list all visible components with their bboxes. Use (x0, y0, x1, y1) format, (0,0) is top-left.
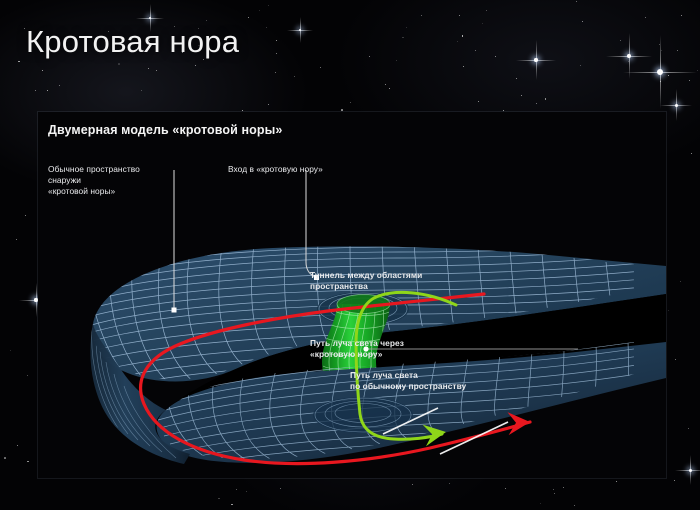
star (545, 98, 547, 100)
star (17, 445, 18, 446)
star (246, 491, 247, 492)
star (689, 80, 690, 81)
star (668, 75, 669, 76)
star (248, 17, 249, 18)
star (688, 428, 689, 429)
diagram-panel: Двумерная модель «кротовой норы» (38, 112, 666, 478)
star (231, 504, 233, 506)
star (462, 35, 464, 37)
star (242, 110, 243, 111)
star (554, 493, 555, 494)
star (563, 487, 564, 488)
star (294, 76, 295, 77)
star (385, 84, 386, 85)
annotation-tunnel: Туннель между областями пространства (310, 270, 422, 292)
star (275, 72, 276, 73)
wormhole-diagram: Обычное пространство снаружи «кротовой н… (38, 112, 666, 478)
star (350, 102, 351, 103)
star (582, 21, 583, 22)
star (516, 78, 517, 79)
star (35, 90, 36, 91)
star (148, 68, 149, 69)
star (616, 481, 617, 482)
star (266, 27, 267, 28)
star (42, 70, 43, 71)
star (482, 23, 483, 24)
star (645, 17, 646, 18)
star (449, 483, 450, 484)
annotation-light-through-wormhole: Путь луча света через «кротовую нору» (310, 338, 404, 360)
star (681, 15, 682, 16)
annotation-entrance: Вход в «кротовую нору» (228, 164, 323, 175)
star (280, 488, 281, 489)
star (691, 153, 692, 154)
star (505, 488, 506, 489)
star (412, 484, 413, 485)
star (486, 10, 487, 11)
star (521, 95, 522, 96)
leader-dot-outer-space (172, 308, 177, 313)
star (236, 489, 237, 490)
annotation-light-normal-space: Путь луча света по обычному пространству (350, 370, 466, 392)
star (674, 480, 675, 481)
star (475, 50, 476, 51)
star (25, 215, 26, 216)
star (206, 20, 207, 21)
star (457, 41, 458, 42)
star (369, 56, 370, 57)
star (459, 15, 460, 16)
star (118, 63, 120, 65)
star (156, 70, 157, 71)
star (576, 1, 577, 2)
star (540, 503, 541, 504)
star (276, 53, 277, 54)
star (553, 489, 554, 490)
star (27, 461, 29, 463)
star (341, 109, 343, 111)
star (195, 65, 196, 66)
star (16, 239, 17, 240)
star (320, 67, 321, 68)
star (536, 103, 537, 104)
star (141, 90, 142, 91)
star (389, 88, 390, 89)
star (680, 281, 681, 282)
star (268, 104, 269, 105)
star (27, 375, 28, 376)
star (218, 498, 220, 500)
star (59, 85, 60, 86)
annotation-outer-space: Обычное пространство снаружи «кротовой н… (48, 164, 140, 198)
page-title: Кротовая нора (26, 24, 239, 60)
star (668, 310, 669, 311)
star (259, 10, 260, 11)
star (4, 457, 6, 459)
star (675, 359, 676, 360)
star (661, 50, 662, 51)
star (10, 350, 11, 351)
star (276, 40, 277, 41)
star (463, 66, 464, 67)
slide-stage: Кротовая нора Двумерная модель «кротовой… (0, 0, 700, 510)
star (47, 90, 48, 91)
star (495, 56, 496, 57)
star (580, 65, 581, 66)
star (18, 61, 20, 63)
star (503, 110, 504, 111)
star (620, 40, 621, 41)
star (406, 27, 407, 28)
star (478, 101, 479, 102)
star (574, 505, 575, 506)
star (677, 50, 678, 51)
star (396, 60, 397, 61)
star (402, 37, 404, 39)
red-path-arrowhead (507, 411, 530, 435)
star (421, 15, 422, 16)
star (268, 5, 269, 6)
